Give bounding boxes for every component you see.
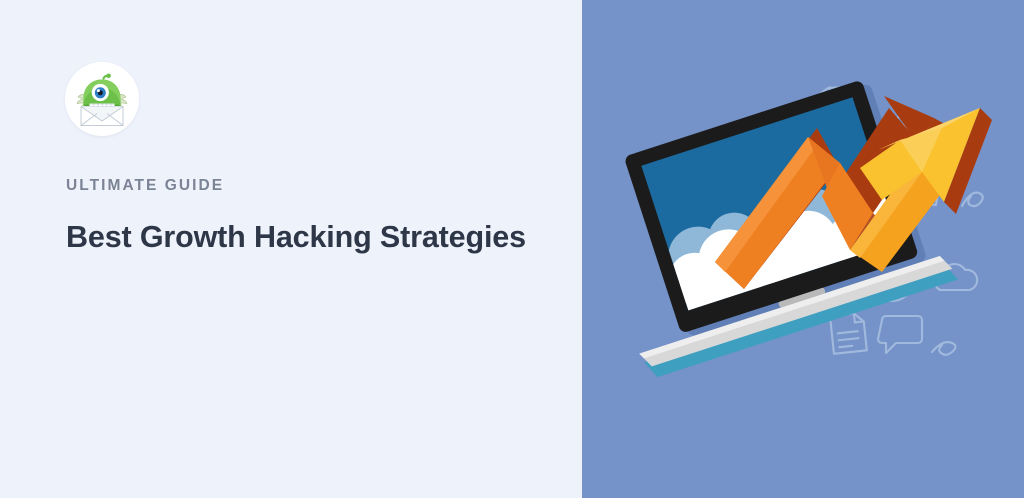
left-content-panel: ULTIMATE GUIDE Best Growth Hacking Strat… bbox=[0, 0, 582, 498]
monster-envelope-icon bbox=[65, 62, 139, 136]
blog-header-banner: ULTIMATE GUIDE Best Growth Hacking Strat… bbox=[0, 0, 1024, 498]
right-illustration-panel bbox=[582, 0, 1024, 498]
laptop-growth-arrow-illustration bbox=[582, 0, 1024, 498]
page-title: Best Growth Hacking Strategies bbox=[66, 219, 526, 257]
eyebrow-label: ULTIMATE GUIDE bbox=[66, 178, 224, 194]
optinmonster-logo bbox=[65, 62, 139, 136]
